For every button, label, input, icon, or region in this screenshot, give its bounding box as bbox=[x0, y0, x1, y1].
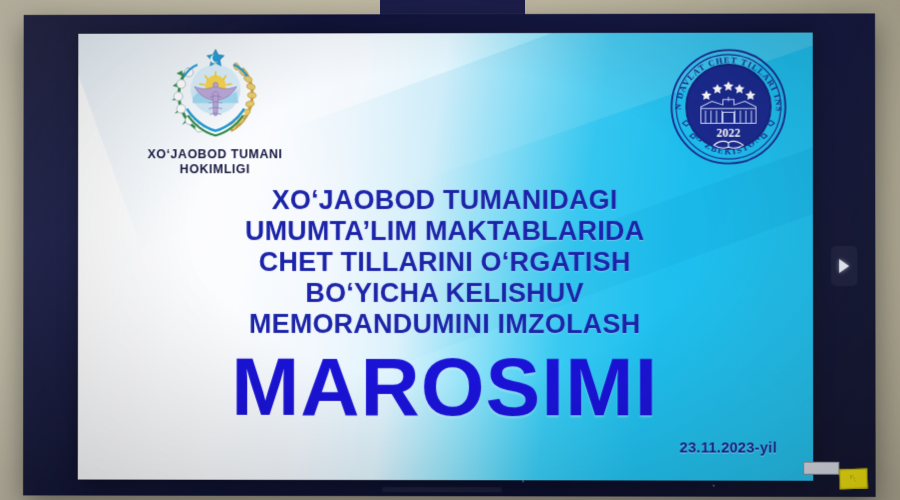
district-administration-caption: XO‘JAOBOD TUMANI HOKIMLIGI bbox=[108, 147, 322, 176]
title-line-3: CHET TILLARINI O‘RGATISH bbox=[78, 247, 813, 278]
slide-date: 23.11.2023-yil bbox=[680, 440, 777, 456]
slide-title-block: XO‘JAOBOD TUMANIDAGI UMUMTA’LIM MAKTABLA… bbox=[78, 185, 813, 431]
tv-brand-strip bbox=[382, 487, 502, 492]
title-line-5: MEMORANDUMINI IMZOLASH bbox=[78, 309, 813, 340]
next-slide-arrow-button[interactable] bbox=[831, 246, 857, 286]
play-triangle-icon bbox=[839, 259, 849, 273]
uzbekistan-coat-of-arms-icon bbox=[167, 47, 263, 143]
hokimlik-caption-line1: XO‘JAOBOD TUMANI bbox=[147, 147, 282, 161]
hokimlik-caption-line2: HOKIMLIGI bbox=[108, 162, 322, 177]
sticker-scribble-icon bbox=[843, 474, 861, 483]
panel-speck bbox=[522, 480, 524, 482]
presentation-slide[interactable]: XO‘JAOBOD TUMANI HOKIMLIGI bbox=[78, 33, 813, 481]
slide-headline: MAROSIMI bbox=[78, 346, 813, 431]
seal-year-text: 2022 bbox=[717, 126, 741, 140]
title-line-2: UMUMTA’LIM MAKTABLARIDA bbox=[78, 216, 813, 247]
district-administration-logo-block: XO‘JAOBOD TUMANI HOKIMLIGI bbox=[108, 47, 322, 176]
title-line-4: BO‘YICHA KELISHUV bbox=[78, 278, 813, 309]
tv-model-label bbox=[803, 462, 839, 475]
panel-speck bbox=[713, 485, 715, 487]
tv-yellow-sticker bbox=[839, 468, 868, 489]
institute-seal-icon: ANDIJON DAVLAT CHET TILLARI INSTITUTI O‘… bbox=[664, 43, 793, 171]
room-scene: XO‘JAOBOD TUMANI HOKIMLIGI bbox=[0, 0, 900, 500]
television-screen[interactable]: XO‘JAOBOD TUMANI HOKIMLIGI bbox=[23, 13, 876, 497]
panel-speck bbox=[143, 45, 145, 47]
title-line-1: XO‘JAOBOD TUMANIDAGI bbox=[78, 185, 813, 216]
institute-logo-block: ANDIJON DAVLAT CHET TILLARI INSTITUTI O‘… bbox=[658, 43, 799, 171]
